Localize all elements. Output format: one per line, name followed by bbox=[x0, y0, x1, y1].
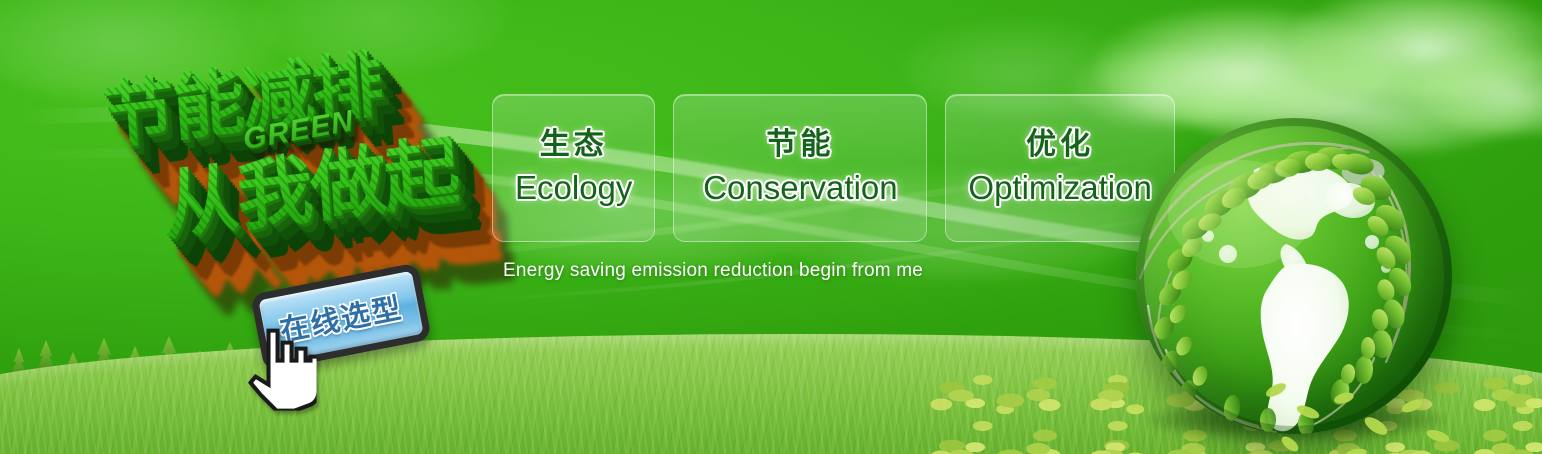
card-title-en: Conservation bbox=[703, 169, 897, 207]
card-title-cn: 节能 bbox=[766, 119, 834, 163]
globe-continents-and-vines bbox=[1136, 118, 1452, 434]
card-title-en: Optimization bbox=[968, 169, 1151, 207]
globe-sphere bbox=[1136, 118, 1452, 434]
leafy-earth-globe bbox=[1136, 118, 1452, 434]
hero-logo: 节能减排 GREEN 从我做起 bbox=[88, 22, 503, 279]
feature-card-conservation[interactable]: 节能 Conservation bbox=[673, 94, 927, 242]
banner-tagline: Energy saving emission reduction begin f… bbox=[503, 260, 923, 282]
card-title-cn: 优化 bbox=[1026, 119, 1094, 163]
card-title-cn: 生态 bbox=[540, 119, 608, 163]
feature-card-ecology[interactable]: 生态 Ecology bbox=[492, 94, 655, 242]
promo-banner: 节能减排 GREEN 从我做起 在线选型 生态 Ecology 节能 Conse… bbox=[0, 0, 1542, 454]
feature-card-list: 生态 Ecology 节能 Conservation 优化 Optimizati… bbox=[492, 94, 1175, 242]
cloud-shape bbox=[1290, 0, 1542, 98]
pointing-hand-cursor-icon bbox=[243, 325, 317, 411]
card-title-en: Ecology bbox=[515, 169, 632, 207]
